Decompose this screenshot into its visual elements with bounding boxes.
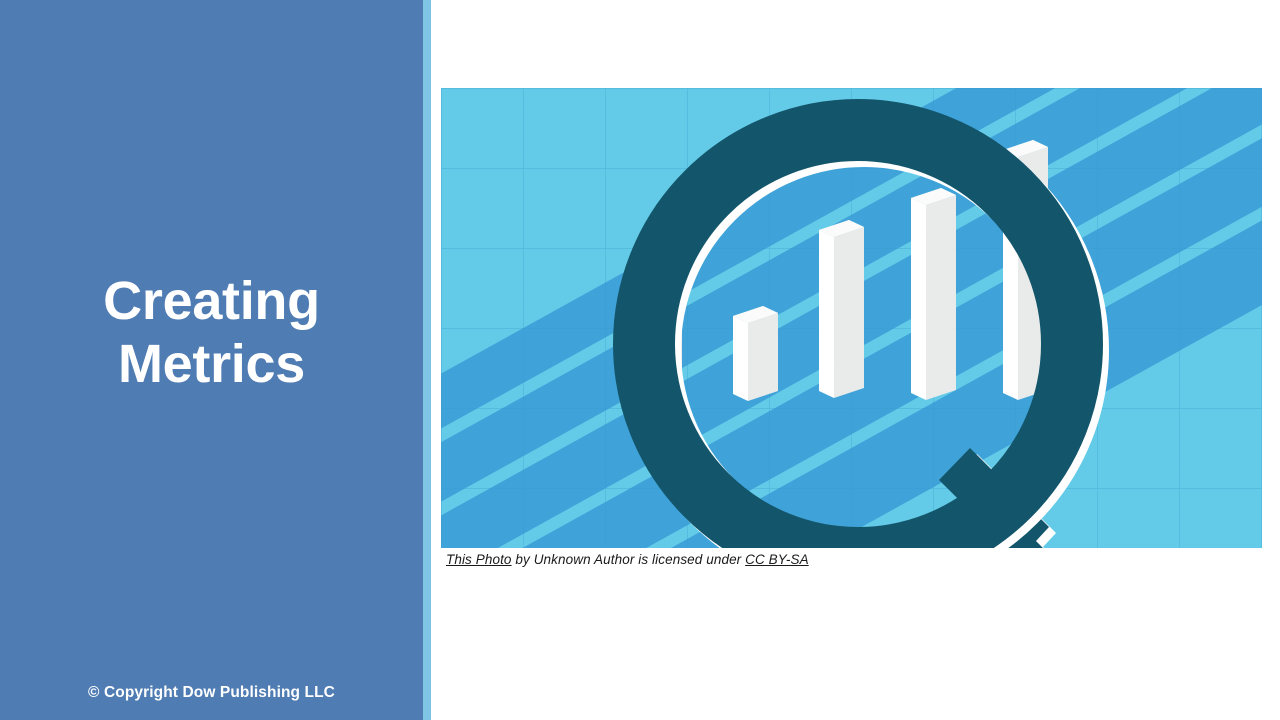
illustration-image xyxy=(441,88,1262,548)
image-attribution-caption: This Photo by Unknown Author is licensed… xyxy=(446,552,1256,567)
this-photo-link[interactable]: This Photo xyxy=(446,552,512,567)
slide: Creating Metrics © Copyright Dow Publish… xyxy=(0,0,1280,720)
cc-license-link[interactable]: CC BY-SA xyxy=(745,552,809,567)
page-title: Creating Metrics xyxy=(0,270,423,396)
magnifier-bar-chart-icon xyxy=(441,88,1262,548)
caption-middle-text: by Unknown Author is licensed under xyxy=(512,552,746,567)
copyright-notice: © Copyright Dow Publishing LLC xyxy=(0,684,423,702)
accent-strip xyxy=(423,0,431,720)
